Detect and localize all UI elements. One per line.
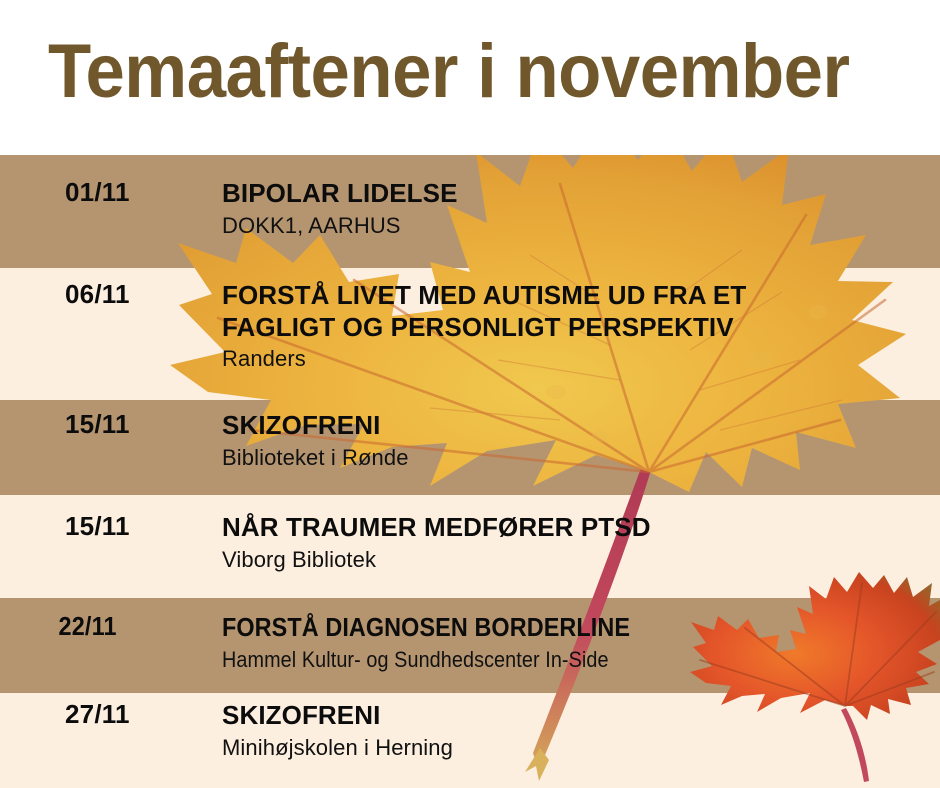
page-title: Temaaftener i november <box>48 27 850 117</box>
row-body: SKIZOFRENI Minihøjskolen i Herning <box>222 700 940 762</box>
row-title: FORSTÅ LIVET MED AUTISME UD FRA ET FAGLI… <box>222 280 940 343</box>
row-date: 15/11 <box>0 512 222 541</box>
row-title: NÅR TRAUMER MEDFØRER PTSD <box>222 512 940 544</box>
schedule-row-6[interactable]: 27/11 SKIZOFRENI Minihøjskolen i Herning <box>0 700 940 762</box>
row-date: 15/11 <box>0 410 222 439</box>
header: Temaaftener i november <box>0 0 940 155</box>
schedule-row-3[interactable]: 15/11 SKIZOFRENI Biblioteket i Rønde <box>0 410 940 472</box>
row-body: FORSTÅ DIAGNOSEN BORDERLINE Hammel Kultu… <box>222 612 940 674</box>
schedule-row-4[interactable]: 15/11 NÅR TRAUMER MEDFØRER PTSD Viborg B… <box>0 512 940 574</box>
row-title: SKIZOFRENI <box>222 700 940 732</box>
row-body: NÅR TRAUMER MEDFØRER PTSD Viborg Bibliot… <box>222 512 940 574</box>
poster-canvas: Temaaftener i november 01/11 BIPOLAR LID… <box>0 0 940 788</box>
row-title: SKIZOFRENI <box>222 410 940 442</box>
row-venue: Hammel Kultur- og Sundhedscenter In-Side <box>222 646 868 674</box>
row-venue: Minihøjskolen i Herning <box>222 734 940 762</box>
row-venue: DOKK1, AARHUS <box>222 212 940 240</box>
row-title: BIPOLAR LIDELSE <box>222 178 940 210</box>
schedule-row-2[interactable]: 06/11 FORSTÅ LIVET MED AUTISME UD FRA ET… <box>0 280 940 374</box>
row-date: 06/11 <box>0 280 222 309</box>
row-body: FORSTÅ LIVET MED AUTISME UD FRA ET FAGLI… <box>222 280 940 374</box>
row-date: 01/11 <box>0 178 222 207</box>
row-date: 22/11 <box>0 612 200 641</box>
row-date: 27/11 <box>0 700 222 729</box>
row-title: FORSTÅ DIAGNOSEN BORDERLINE <box>222 612 868 644</box>
schedule-row-5[interactable]: 22/11 FORSTÅ DIAGNOSEN BORDERLINE Hammel… <box>0 612 940 674</box>
row-venue: Viborg Bibliotek <box>222 546 940 574</box>
schedule-row-1[interactable]: 01/11 BIPOLAR LIDELSE DOKK1, AARHUS <box>0 178 940 240</box>
row-body: BIPOLAR LIDELSE DOKK1, AARHUS <box>222 178 940 240</box>
row-body: SKIZOFRENI Biblioteket i Rønde <box>222 410 940 472</box>
row-venue: Randers <box>222 345 940 373</box>
row-venue: Biblioteket i Rønde <box>222 444 940 472</box>
